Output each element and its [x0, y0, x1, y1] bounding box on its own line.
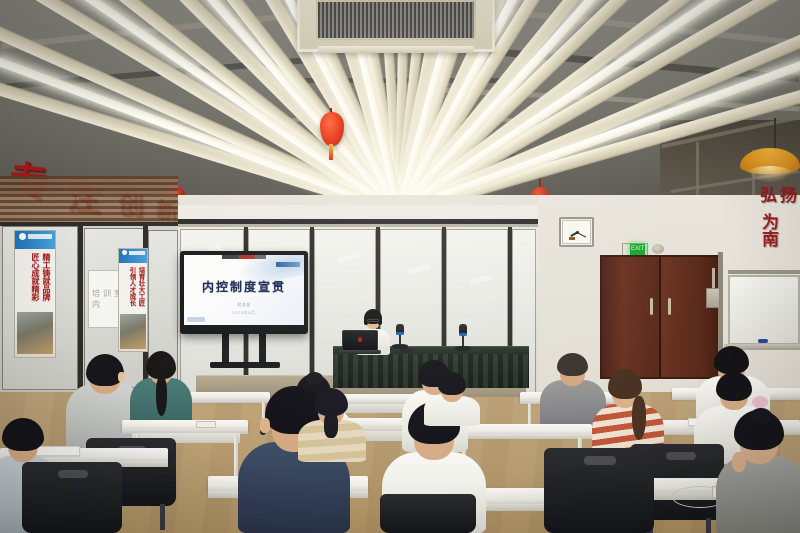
attendee-11-hair [716, 372, 752, 401]
poster-logo-icon [122, 250, 127, 255]
poster-2-col-2: 引领人才成长 [128, 267, 135, 306]
chair-handle-slot [666, 452, 696, 460]
attendee-1-ear [118, 372, 125, 382]
person-attendee-5 [298, 388, 366, 460]
poster-2: 培育壮大工匠 引领人才成长 [118, 248, 148, 352]
person-attendee-14 [424, 372, 480, 424]
wall-conduit [712, 268, 715, 290]
display-stand-right [259, 334, 266, 364]
display-stand-base [210, 362, 280, 368]
slide-subtitle: 财务部 [184, 302, 304, 308]
lantern-tassel [329, 144, 333, 160]
clock-center [576, 231, 579, 234]
poster-logo-icon [19, 233, 26, 240]
whiteboard-rail [728, 270, 800, 274]
attendee-7-hair [557, 353, 588, 376]
attendee-10-torso [716, 456, 800, 533]
slide-top-accent [222, 255, 266, 259]
attendee-2-hair [146, 351, 176, 379]
poster-logo-text [28, 234, 52, 239]
clock-logo [569, 237, 575, 240]
poster-photo [120, 314, 146, 349]
attendee-8-hair [608, 369, 642, 399]
attendee-2-ponytail [156, 376, 167, 416]
ac-grille [316, 0, 476, 40]
chair-leg [706, 518, 711, 533]
person-attendee-10 [716, 410, 800, 533]
attendee-5-ponytail [324, 412, 338, 438]
glass-header [0, 222, 178, 226]
slide-footer-chip [187, 317, 205, 322]
glass-rail [178, 224, 538, 227]
poster-1-col-1: 精工铸就品牌 [43, 253, 51, 301]
lantern-icon [320, 112, 344, 146]
window-blinds [0, 176, 178, 222]
door-center-seam [659, 256, 661, 378]
pendant-lamp-glow [746, 166, 794, 182]
pendant-lamp-cord [774, 118, 776, 152]
attendee-10-bun [750, 408, 772, 424]
attendee-9-hair [714, 346, 749, 374]
attendee-8-ponytail [632, 396, 646, 440]
laptop-base[interactable] [339, 350, 381, 354]
chair-handle-slot [58, 470, 88, 478]
photo-scene: 专 注 创 新 培训室内 精工铸就品牌 匠心成就精彩 培育壮大工匠 引领人才成长 [0, 0, 800, 533]
microphone-indicator-2 [459, 333, 467, 336]
laptop-logo-icon [358, 337, 362, 342]
hair-scrunchie-icon [752, 396, 768, 408]
display-stand-left [222, 334, 229, 364]
whiteboard[interactable] [728, 275, 800, 345]
ac-diffuser-lip [318, 46, 474, 53]
right-wall-text-1: 弘扬 [760, 188, 800, 205]
attendee-14-hair [438, 372, 466, 395]
exit-icon: EXIT [631, 244, 644, 255]
wall-control-panel[interactable] [706, 288, 720, 308]
chair-backrest[interactable] [380, 494, 476, 533]
glass-mullion [310, 227, 314, 393]
attendee-12-hair [2, 418, 44, 451]
attendee-4-ear [260, 418, 270, 433]
door-handle-right[interactable] [668, 298, 671, 315]
smoke-detector-icon [652, 244, 664, 254]
slide-date: 2023年8月 [184, 310, 304, 316]
chair-leg [160, 504, 165, 530]
slide-title: 内控制度宣贯 [184, 278, 304, 295]
poster-photo [17, 312, 54, 355]
microphone-indicator-1 [396, 332, 404, 335]
attendee-10-hand [732, 452, 746, 472]
right-wall-text-2: 为南 [762, 215, 800, 249]
desk-power-outlet[interactable] [196, 421, 216, 428]
chair-handle-slot [584, 456, 616, 465]
clock-face [562, 220, 591, 244]
poster-1: 精工铸就品牌 匠心成就精彩 [14, 230, 56, 358]
poster-2-col-1: 培育壮大工匠 [137, 267, 144, 306]
door-handle-left[interactable] [650, 298, 653, 315]
microphone-base-2 [455, 346, 471, 351]
presentation-slide[interactable]: 内控制度宣贯 财务部 2023年8月 [184, 255, 304, 325]
poster-1-col-2: 匠心成就精彩 [32, 253, 40, 301]
marker-icon[interactable] [758, 339, 768, 343]
poster-logo-text [129, 251, 145, 255]
glasses-icon [367, 319, 379, 322]
slide-logo-badge [276, 262, 300, 267]
